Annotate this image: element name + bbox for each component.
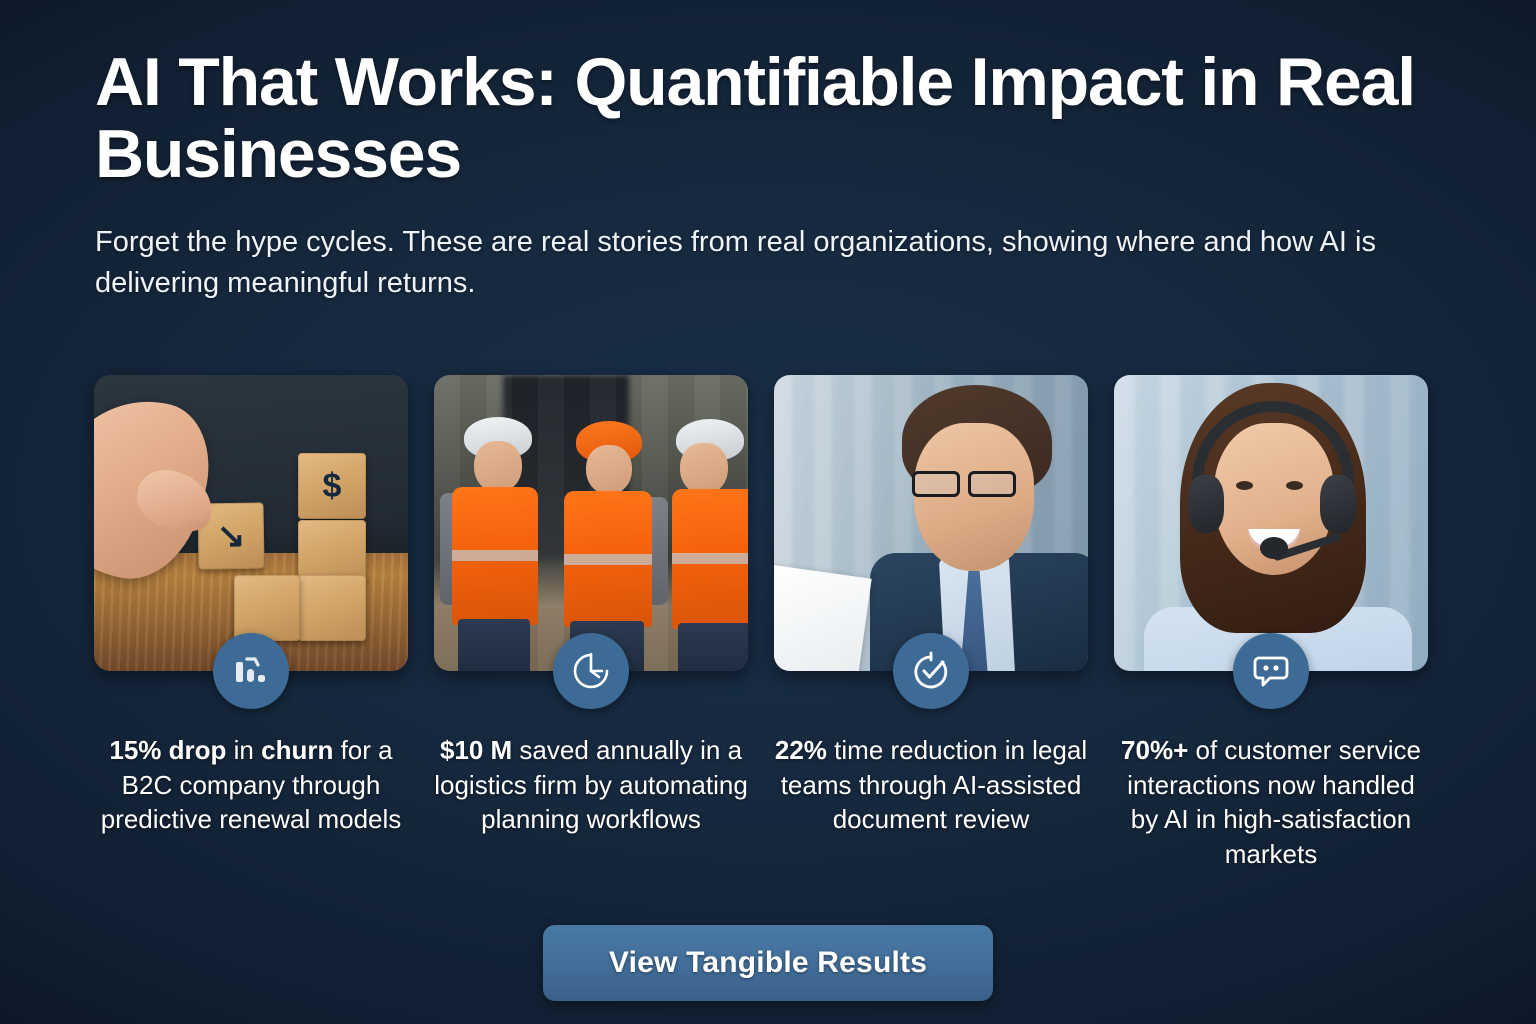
headset-microphone <box>1260 537 1288 559</box>
card-caption: 22% time reduction in legal teams throug… <box>774 733 1088 837</box>
card-caption: 15% drop in churn for a B2C company thro… <box>94 733 408 837</box>
card-stat: 70%+ <box>1121 735 1188 765</box>
stat-card[interactable]: 22% time reduction in legal teams throug… <box>774 375 1088 871</box>
wooden-block-plain <box>234 575 300 641</box>
card-caption: $10 M saved annually in a logistics firm… <box>434 733 748 837</box>
card-stat-tail: time reduction <box>827 735 998 765</box>
stat-card-grid: $ ↘ 15% drop in churn for a B2C <box>94 375 1448 871</box>
construction-worker <box>658 375 748 671</box>
eyeglasses <box>910 471 1034 497</box>
stat-card[interactable]: 70%+ of customer service interactions no… <box>1114 375 1428 871</box>
chat-bubble-icon <box>1233 633 1309 709</box>
card-caption: 70%+ of customer service interactions no… <box>1114 733 1428 871</box>
page-subtitle: Forget the hype cycles. These are real s… <box>95 222 1395 304</box>
card-stat: 22% <box>775 735 827 765</box>
card-stat: 15% drop <box>109 735 226 765</box>
document-page <box>774 564 872 671</box>
headset-earcup <box>1320 475 1356 533</box>
construction-worker <box>550 375 666 671</box>
clock-icon <box>553 633 629 709</box>
wooden-block-dollar: $ <box>298 453 366 519</box>
stat-card[interactable]: $ ↘ 15% drop in churn for a B2C <box>94 375 408 871</box>
card-stat-tail: saved annually <box>512 735 693 765</box>
construction-worker <box>440 375 552 671</box>
header: AI That Works: Quantifiable Impact in Re… <box>95 46 1465 305</box>
card-stat-tail: in <box>226 735 261 765</box>
face <box>914 423 1034 571</box>
headset-earcup <box>1188 475 1224 533</box>
card-stat: $10 M <box>440 735 512 765</box>
card-stat-emphasis: churn <box>261 735 333 765</box>
view-tangible-results-button[interactable]: View Tangible Results <box>543 925 993 1001</box>
card-photo-blocks: $ ↘ <box>94 375 408 671</box>
card-photo-construction <box>434 375 748 671</box>
card-stat-tail: of customer <box>1188 735 1331 765</box>
page-title: AI That Works: Quantifiable Impact in Re… <box>95 46 1455 190</box>
wooden-block-plain <box>298 575 366 641</box>
wooden-block-plain <box>298 520 366 582</box>
card-photo-businessman <box>774 375 1088 671</box>
card-photo-agent <box>1114 375 1428 671</box>
declining-bar-chart-icon <box>213 633 289 709</box>
timer-check-icon <box>893 633 969 709</box>
stat-card[interactable]: $10 M saved annually in a logistics firm… <box>434 375 748 871</box>
